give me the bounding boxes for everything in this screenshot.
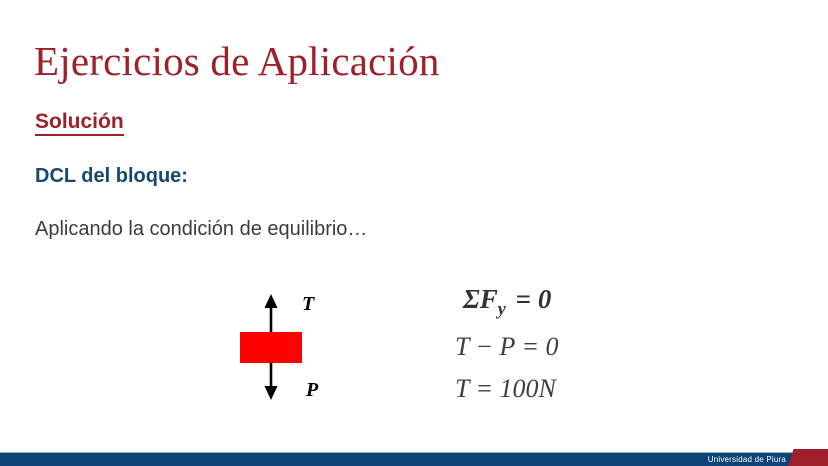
equation-rhs-zero: 0 [538, 284, 552, 314]
body-paragraph: Aplicando la condición de equilibrio… [35, 216, 367, 242]
footer-bar [0, 452, 828, 466]
equation-sum-forces: ΣFy= 0 [455, 283, 675, 325]
equation-equals: = [506, 284, 531, 314]
solution-heading-label: Solución [35, 110, 124, 136]
equation-t-minus-p: T − P = 0 [455, 325, 675, 368]
weight-label: P [306, 380, 318, 400]
footer-accent-shape [788, 449, 828, 466]
slide-canvas: Ejercicios de Aplicación Solución DCL de… [0, 0, 828, 466]
equation-sigma: Σ [463, 284, 480, 314]
tension-arrow-head [265, 294, 278, 308]
fbd-drawing [226, 286, 356, 411]
slide-footer: Universidad de Piura [0, 452, 828, 466]
equations-group: ΣFy= 0 T − P = 0 T = 100N [455, 283, 675, 410]
tension-label: T [302, 294, 314, 314]
free-body-diagram: T P [226, 286, 356, 411]
page-title: Ejercicios de Aplicación [34, 38, 440, 84]
block-rect [240, 332, 302, 363]
footer-institution-label: Universidad de Piura [708, 454, 786, 465]
equation-subscript-y: y [498, 298, 506, 318]
equation-force-symbol: F [480, 284, 498, 314]
weight-arrow-head [265, 386, 278, 400]
equation-t-value: T = 100N [455, 368, 675, 410]
solution-heading: Solución [35, 109, 124, 134]
dcl-heading: DCL del bloque: [35, 164, 188, 189]
